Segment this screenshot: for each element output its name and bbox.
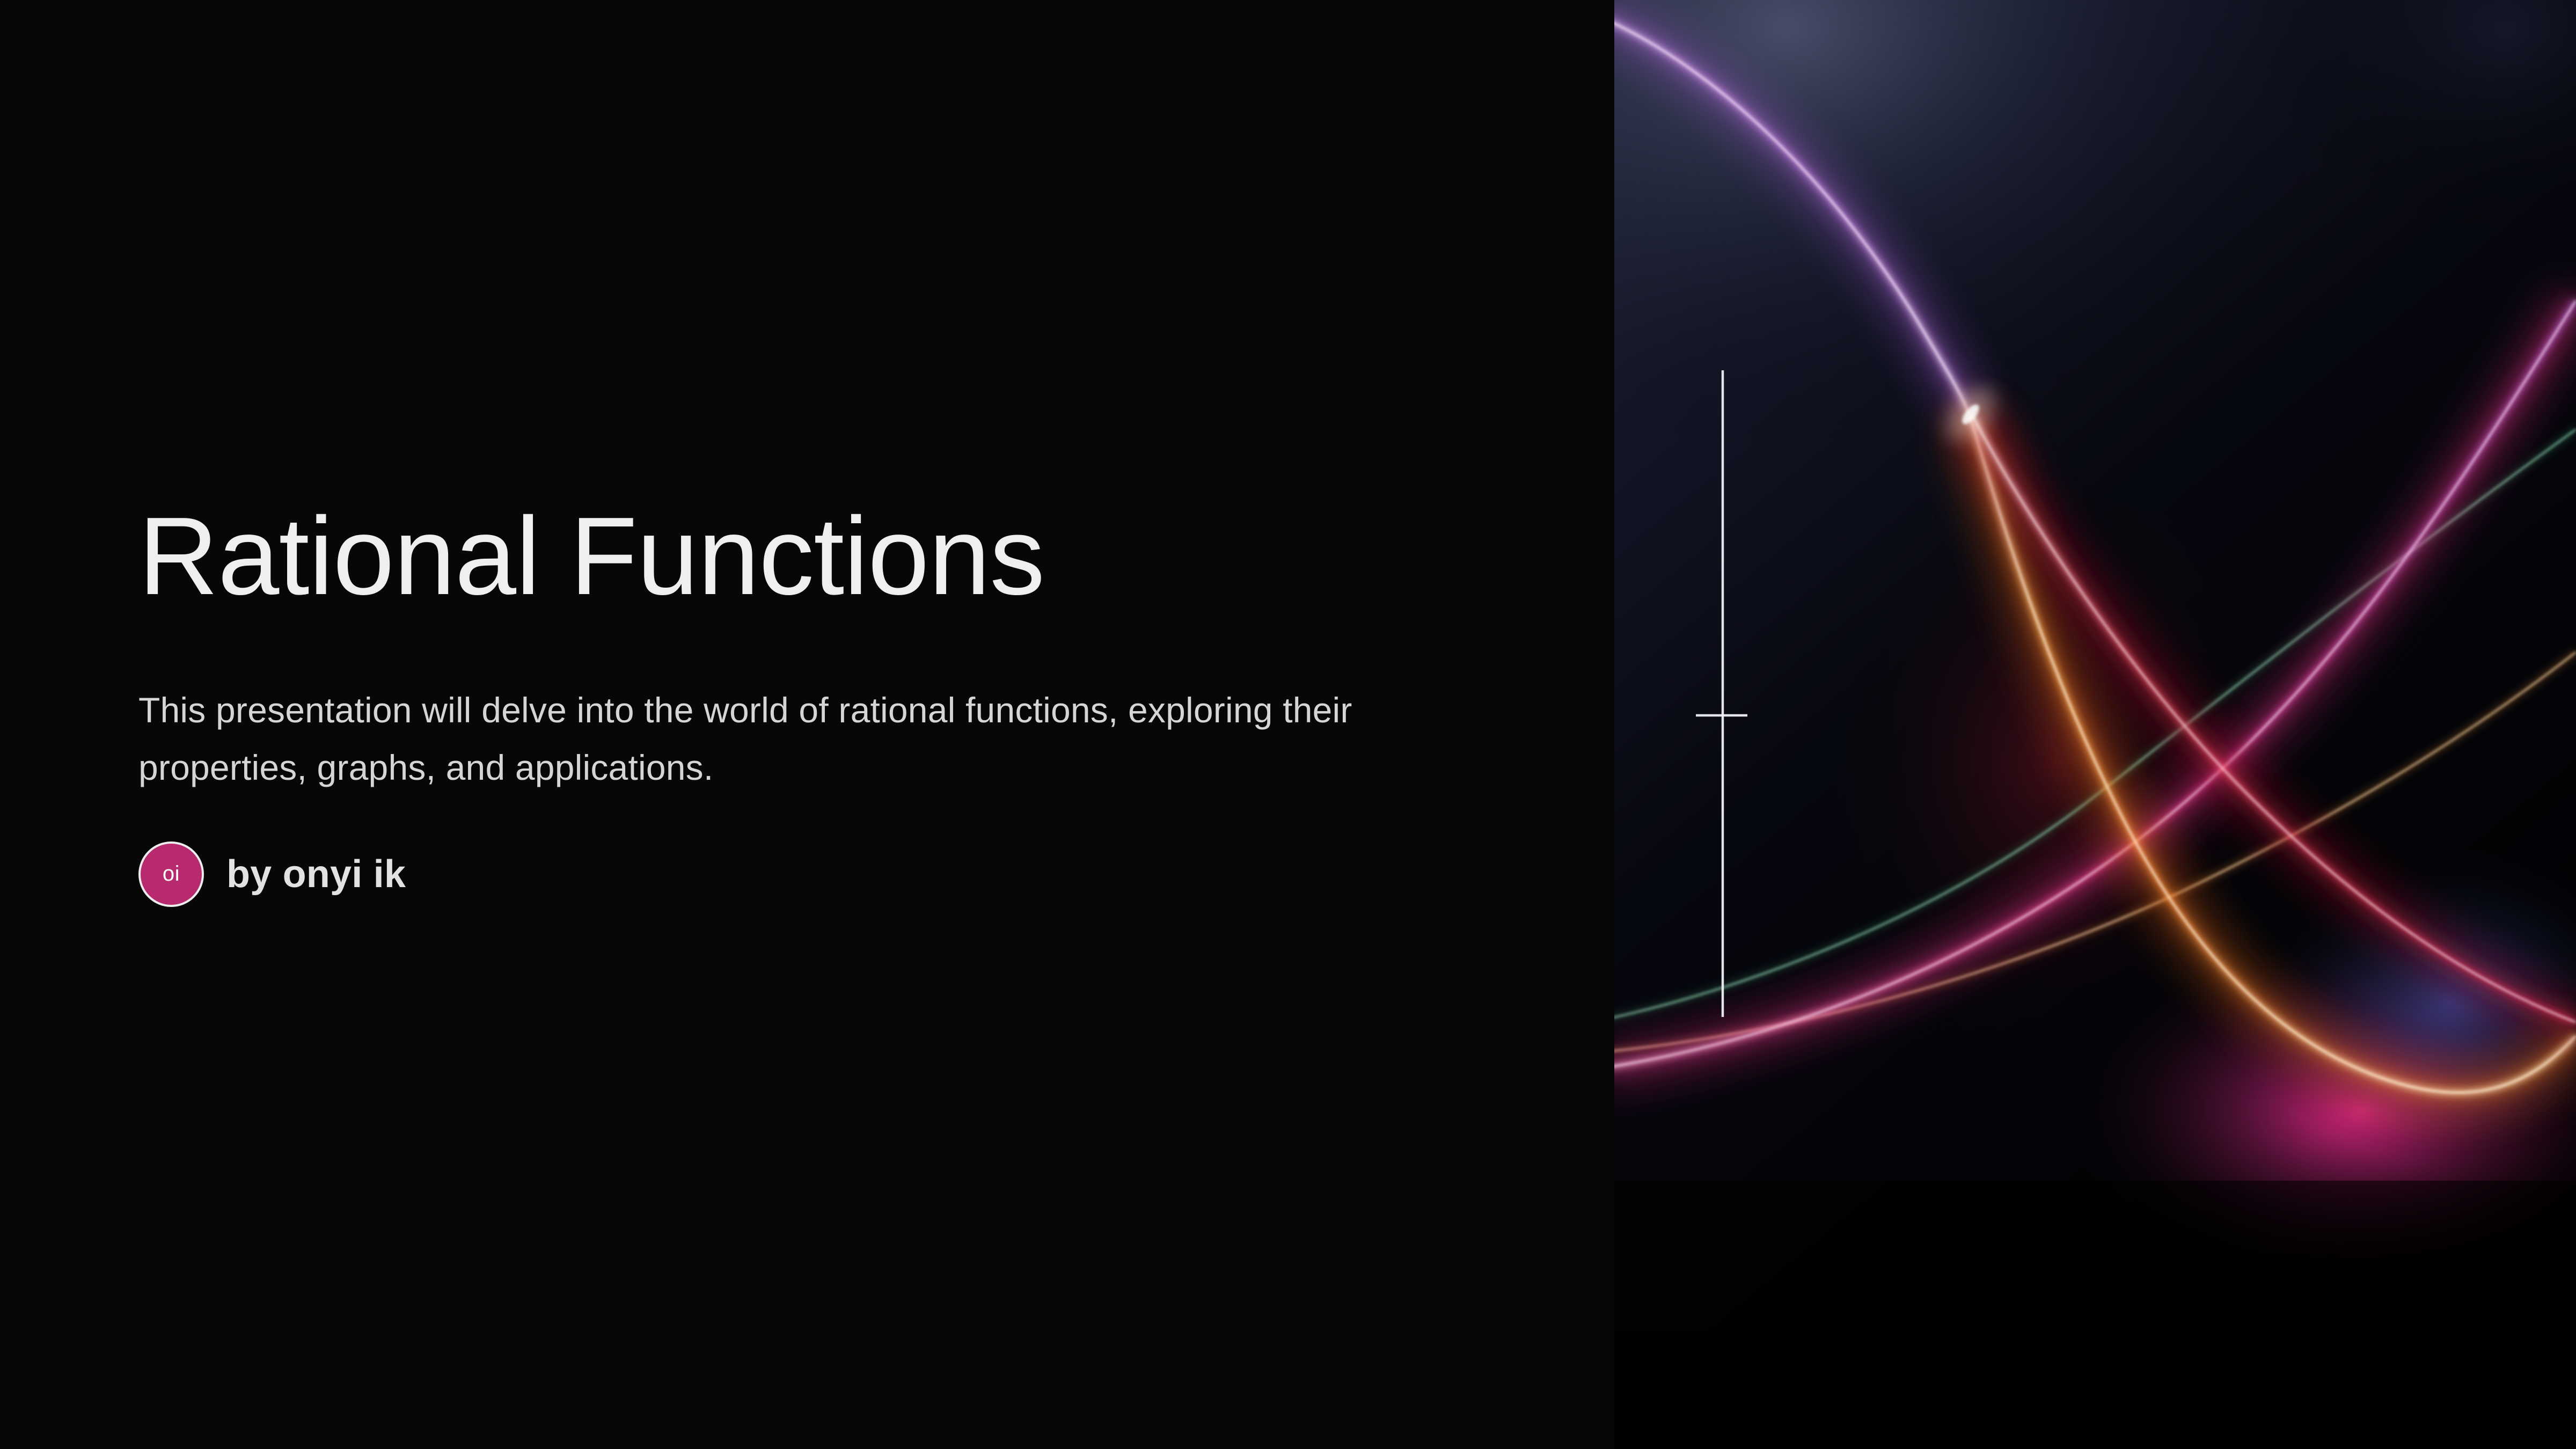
avatar-initials: oi: [163, 862, 180, 886]
author-name: by onyi ik: [226, 852, 406, 896]
avatar: oi: [138, 841, 204, 907]
neon-curves-artwork: [1614, 0, 2576, 1449]
slide-description: This presentation will delve into the wo…: [138, 682, 1480, 796]
title-content-block: Rational Functions This presentation wil…: [138, 499, 1512, 907]
left-text-panel: Rational Functions This presentation wil…: [0, 0, 1614, 1449]
page-title: Rational Functions: [138, 499, 1512, 613]
decorative-artwork-panel: [1614, 0, 2576, 1449]
author-byline-row: oi by onyi ik: [138, 841, 1512, 907]
presentation-slide: Rational Functions This presentation wil…: [0, 0, 2576, 1449]
